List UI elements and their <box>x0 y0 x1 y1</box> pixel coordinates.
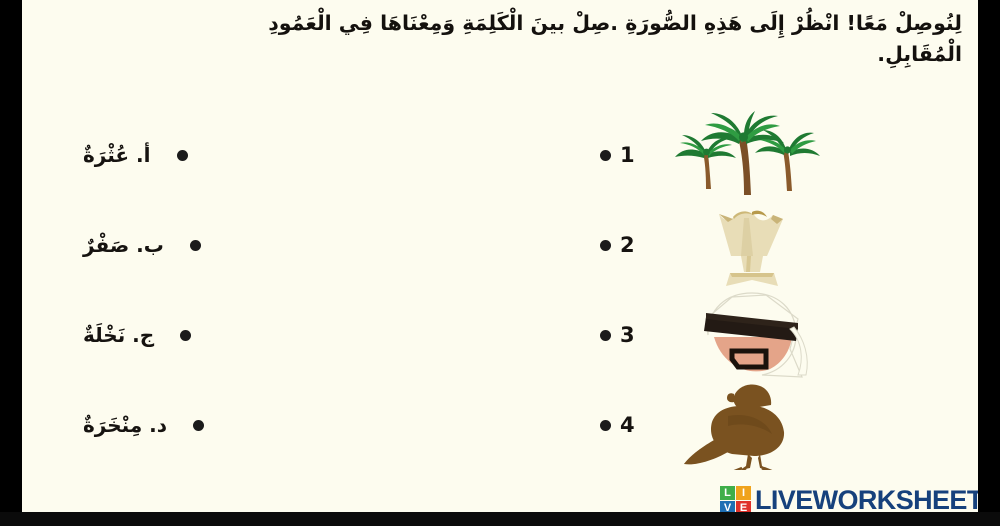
logo-tile-l: L <box>720 486 735 500</box>
palm-trees-image <box>647 109 857 201</box>
picture-connector-dot[interactable] <box>600 150 611 161</box>
face-headdress-image <box>647 289 857 381</box>
word-option-d[interactable]: د. مِنْخَرَةٌ <box>83 380 413 470</box>
instruction-text: لِنُوصِلْ مَعًا! انْظُرْ إِلَى هَذِهِ ال… <box>22 8 974 70</box>
matching-row: ب. صَفْرٌ 2 <box>22 200 978 290</box>
logo-tile-i: I <box>736 486 751 500</box>
matching-row: ج. نَخْلَةٌ 3 <box>22 290 978 380</box>
word-connector-dot[interactable] <box>193 420 204 431</box>
word-option-label: د. مِنْخَرَةٌ <box>83 413 167 437</box>
logo-tiles: L I V E <box>720 486 751 512</box>
word-option-c[interactable]: ج. نَخْلَةٌ <box>83 290 413 380</box>
word-connector-dot[interactable] <box>177 150 188 161</box>
picture-number-label: 2 <box>620 233 635 257</box>
bottom-border-bar <box>0 512 1000 526</box>
word-option-a[interactable]: أ. عُثْرَةٌ <box>83 110 413 200</box>
picture-connector-dot[interactable] <box>600 330 611 341</box>
logo-wordmark: LIVEWORKSHEETS <box>755 487 978 512</box>
face-headdress-graphic <box>670 289 835 381</box>
palm-trees-graphic <box>670 111 835 199</box>
instruction-line-1: لِنُوصِلْ مَعًا! انْظُرْ إِلَى هَذِهِ ال… <box>268 11 962 35</box>
worksheet-page: لِنُوصِلْ مَعًا! انْظُرْ إِلَى هَذِهِ ال… <box>0 0 1000 526</box>
picture-number-label: 4 <box>620 413 635 437</box>
logo-tile-v: V <box>720 501 735 512</box>
matching-row: أ. عُثْرَةٌ 1 <box>22 110 978 200</box>
worksheet-content-area: لِنُوصِلْ مَعًا! انْظُرْ إِلَى هَذِهِ ال… <box>22 0 978 512</box>
instruction-line-2: الْمُقَابِلِ. <box>22 39 962 70</box>
incense-burner-image <box>647 199 857 291</box>
word-connector-dot[interactable] <box>180 330 191 341</box>
word-option-label: ج. نَخْلَةٌ <box>83 323 154 347</box>
picture-number-label: 1 <box>620 143 635 167</box>
falcon-graphic <box>672 380 832 470</box>
logo-tile-e: E <box>736 501 751 512</box>
word-option-b[interactable]: ب. صَفْرٌ <box>83 200 413 290</box>
picture-connector-dot[interactable] <box>600 240 611 251</box>
picture-connector-dot[interactable] <box>600 420 611 431</box>
picture-number-label: 3 <box>620 323 635 347</box>
word-option-label: أ. عُثْرَةٌ <box>83 143 151 167</box>
matching-row: د. مِنْخَرَةٌ 4 <box>22 380 978 470</box>
liveworksheets-logo: L I V E LIVEWORKSHEETS <box>720 486 978 512</box>
word-connector-dot[interactable] <box>190 240 201 251</box>
word-option-label: ب. صَفْرٌ <box>83 233 164 257</box>
matching-exercise: أ. عُثْرَةٌ 1 <box>22 100 978 480</box>
falcon-image <box>647 379 857 471</box>
incense-burner-graphic <box>697 200 807 290</box>
